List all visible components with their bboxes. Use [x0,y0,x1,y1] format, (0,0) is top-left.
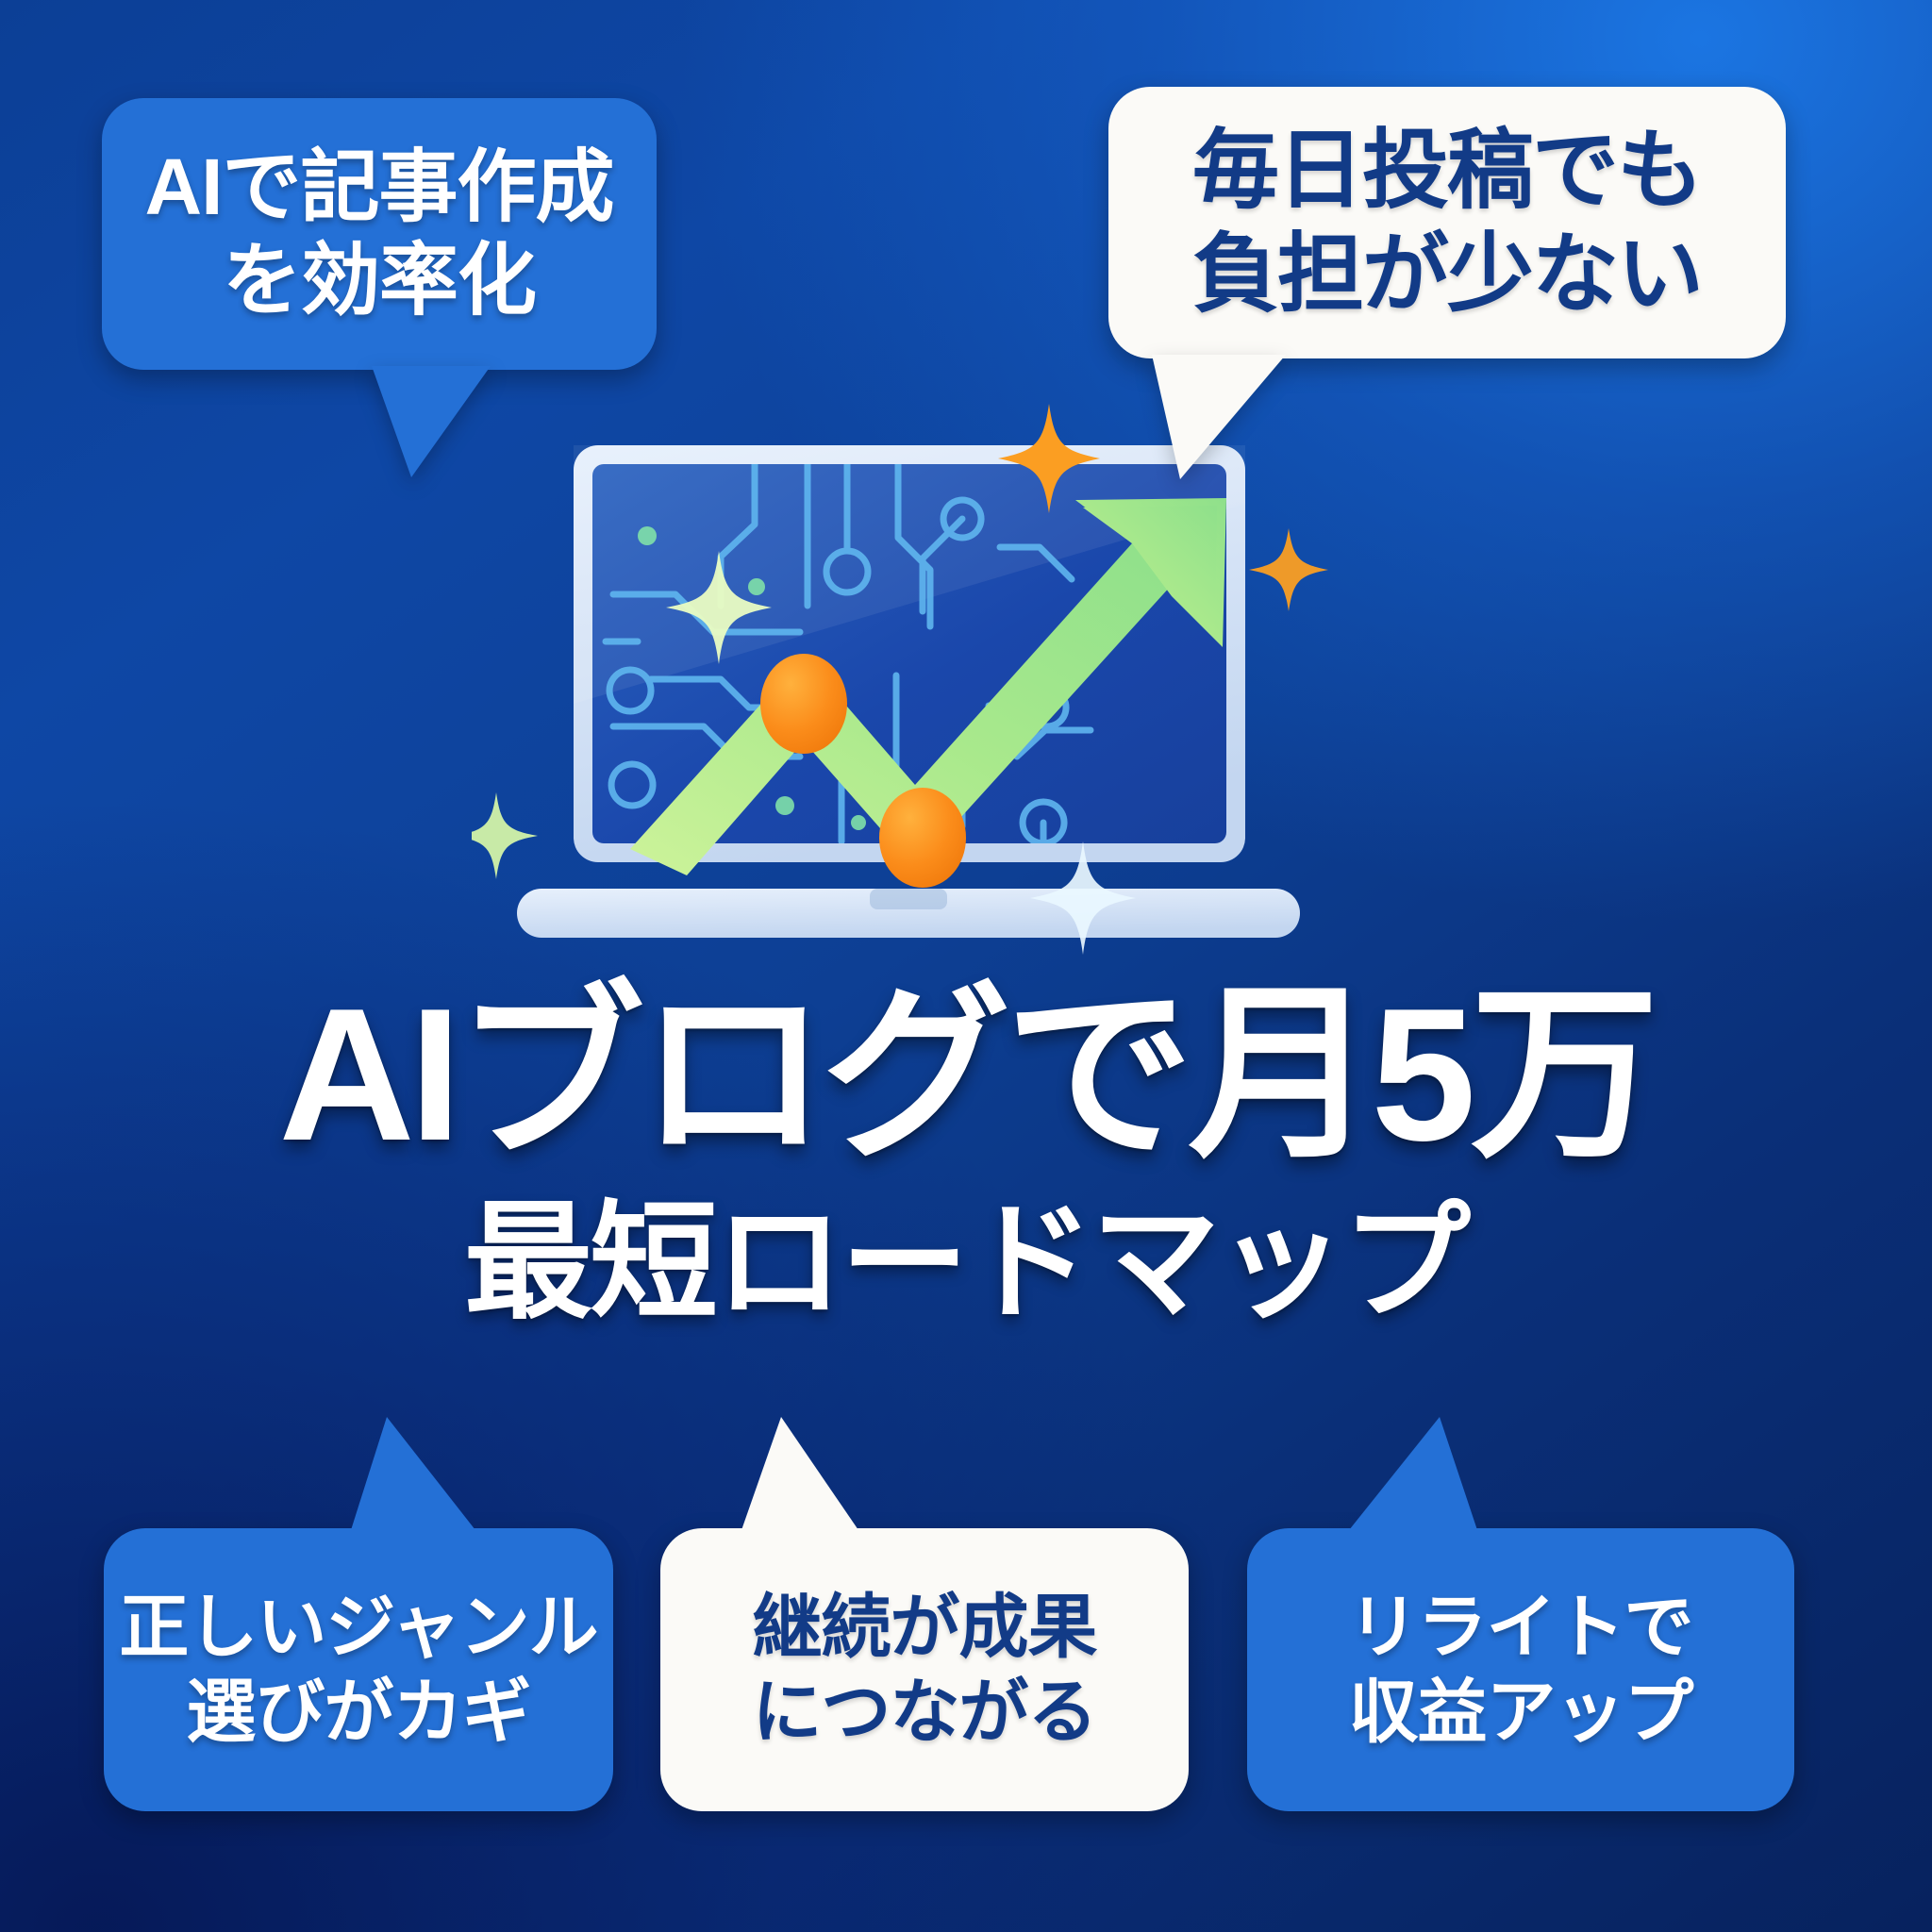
headline-block: AIブログで月5万 最短ロードマップ [0,981,1932,1326]
bubble-line: 毎日投稿でも [1192,119,1702,223]
page-title: AIブログで月5万 [0,981,1932,1170]
speech-bubble-top-right[interactable]: 毎日投稿でも 負担が少ない [1108,87,1786,358]
speech-bubble-bottom-middle[interactable]: 継続が成果 につながる [660,1528,1189,1811]
bubble-tail-icon [1152,355,1286,479]
bubble-tail-icon [372,366,491,477]
speech-bubble-bottom-left[interactable]: 正しいジャンル 選びがカギ [104,1528,613,1811]
page-subtitle: 最短ロードマップ [0,1198,1932,1326]
bubble-line: 正しいジャンル [119,1585,597,1670]
bubble-tail-icon [741,1417,858,1530]
bubble-line: 負担が少ない [1192,223,1702,326]
bubble-line: AIで記事作成 [144,141,613,234]
bubble-line: を効率化 [223,234,536,327]
infographic-canvas: AIブログで月5万 最短ロードマップ AIで記事作成 を効率化 毎日投稿でも 負… [0,0,1932,1932]
laptop-growth-illustration [472,358,1509,981]
bubble-tail-icon [1349,1417,1477,1530]
speech-bubble-top-left[interactable]: AIで記事作成 を効率化 [102,98,657,370]
bubble-line: につながる [753,1670,1097,1755]
bubble-line: 収益アップ [1349,1670,1693,1755]
bubble-line: リライトで [1349,1585,1693,1670]
speech-bubble-bottom-right[interactable]: リライトで 収益アップ [1247,1528,1794,1811]
bubble-line: 継続が成果 [753,1585,1097,1670]
bubble-line: 選びがカギ [187,1670,531,1755]
bubble-tail-icon [351,1417,475,1530]
